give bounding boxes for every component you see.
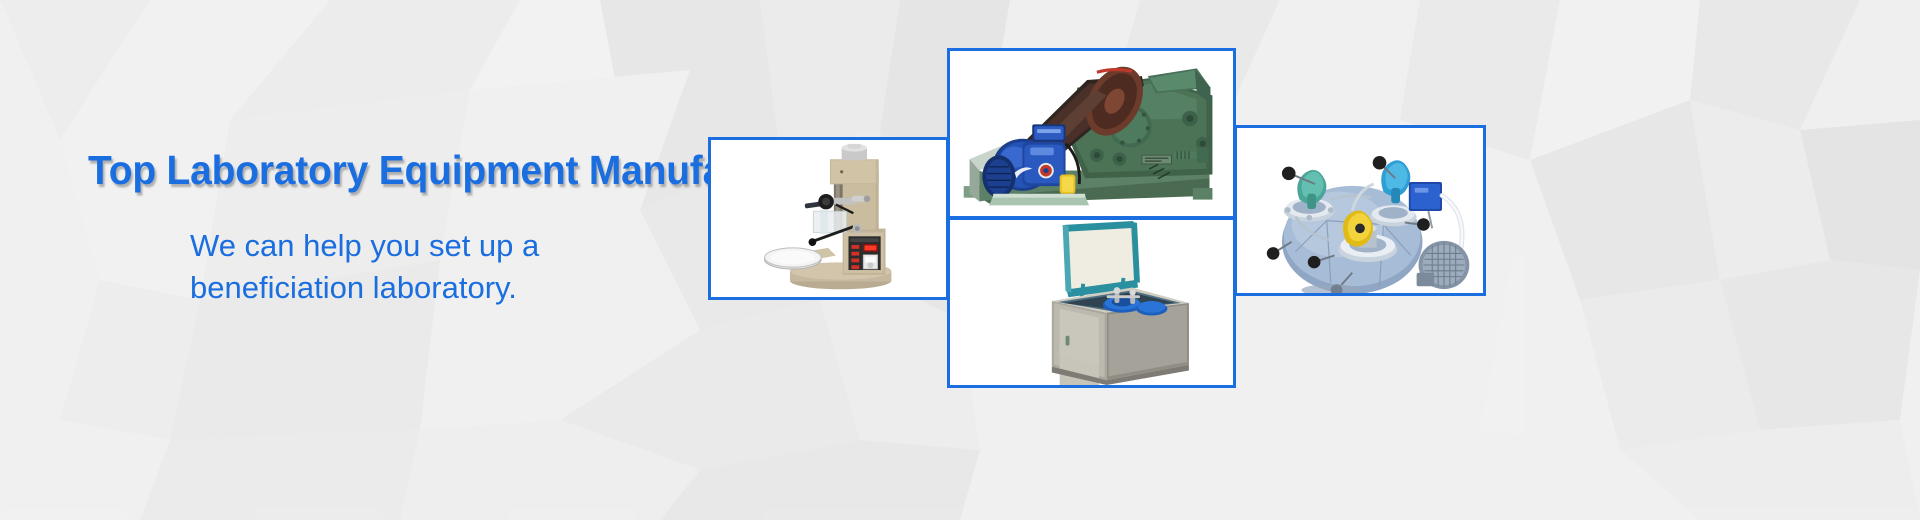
- subtitle-line-1: We can help you set up a: [190, 225, 539, 267]
- banner-text-block: Top Laboratory Equipment Manufacturer We…: [0, 0, 700, 520]
- laboratory-flotation-machine-photo: [711, 140, 946, 297]
- promo-banner: Top Laboratory Equipment Manufacturer We…: [0, 0, 1920, 520]
- banner-subtitle: We can help you set up a beneficiation l…: [190, 225, 539, 309]
- product-panel-vibrating-pulverizer[interactable]: [947, 217, 1236, 388]
- laboratory-vibrating-pulverizer-photo: [950, 220, 1233, 385]
- product-panel-jaw-crusher[interactable]: [947, 48, 1236, 219]
- product-panel-flotation-machine[interactable]: [708, 137, 949, 300]
- laboratory-multi-vessel-grinder-photo: [1237, 128, 1483, 293]
- subtitle-line-2: beneficiation laboratory.: [190, 267, 539, 309]
- laboratory-jaw-crusher-photo: [950, 51, 1233, 216]
- product-panel-multi-vessel-grinder[interactable]: [1234, 125, 1486, 296]
